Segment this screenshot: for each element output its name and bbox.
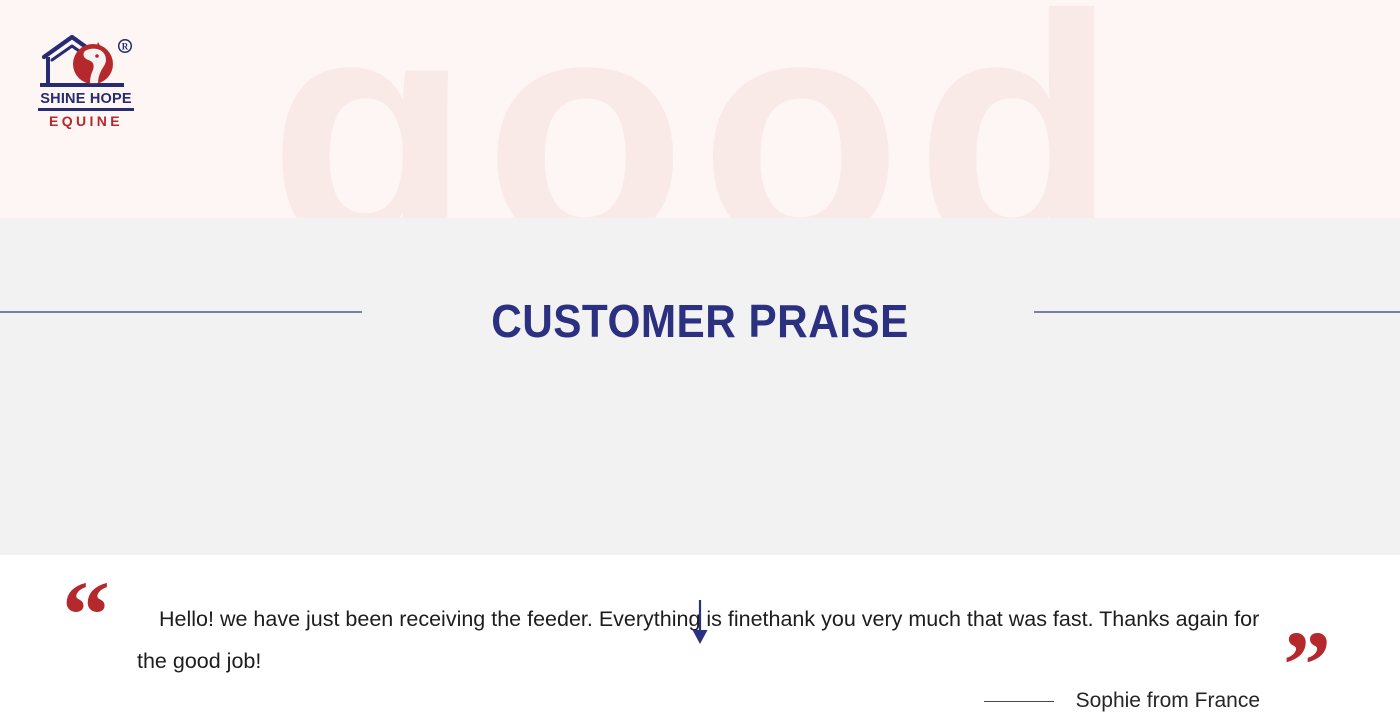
closing-quote-icon: ” <box>1283 617 1331 713</box>
arrow-down-icon[interactable] <box>688 598 712 646</box>
opening-quote-icon: “ <box>62 567 110 663</box>
hero-banner: good <box>0 0 1400 218</box>
page-title: CUSTOMER PRAISE <box>56 292 1344 350</box>
title-rule-right <box>1034 311 1400 313</box>
testimonial-attribution: Sophie from France <box>0 688 1260 714</box>
shine-hope-equine-logo-icon: R <box>38 33 142 91</box>
section-title-row: CUSTOMER PRAISE <box>0 292 1400 354</box>
attribution-author: Sophie from France <box>1076 688 1260 714</box>
attribution-dash <box>984 701 1054 702</box>
logo-brand-line1: SHINE HOPE <box>38 91 134 107</box>
watermark-text: good <box>0 0 1400 218</box>
customer-praise-panel: CUSTOMER PRAISE “ Hello! we have just be… <box>0 218 1400 555</box>
brand-logo[interactable]: R SHINE HOPE EQUINE <box>38 33 142 133</box>
logo-divider-bar <box>38 108 134 111</box>
svg-text:R: R <box>122 42 129 52</box>
logo-brand-line2: EQUINE <box>38 113 134 130</box>
title-rule-left <box>0 311 362 313</box>
